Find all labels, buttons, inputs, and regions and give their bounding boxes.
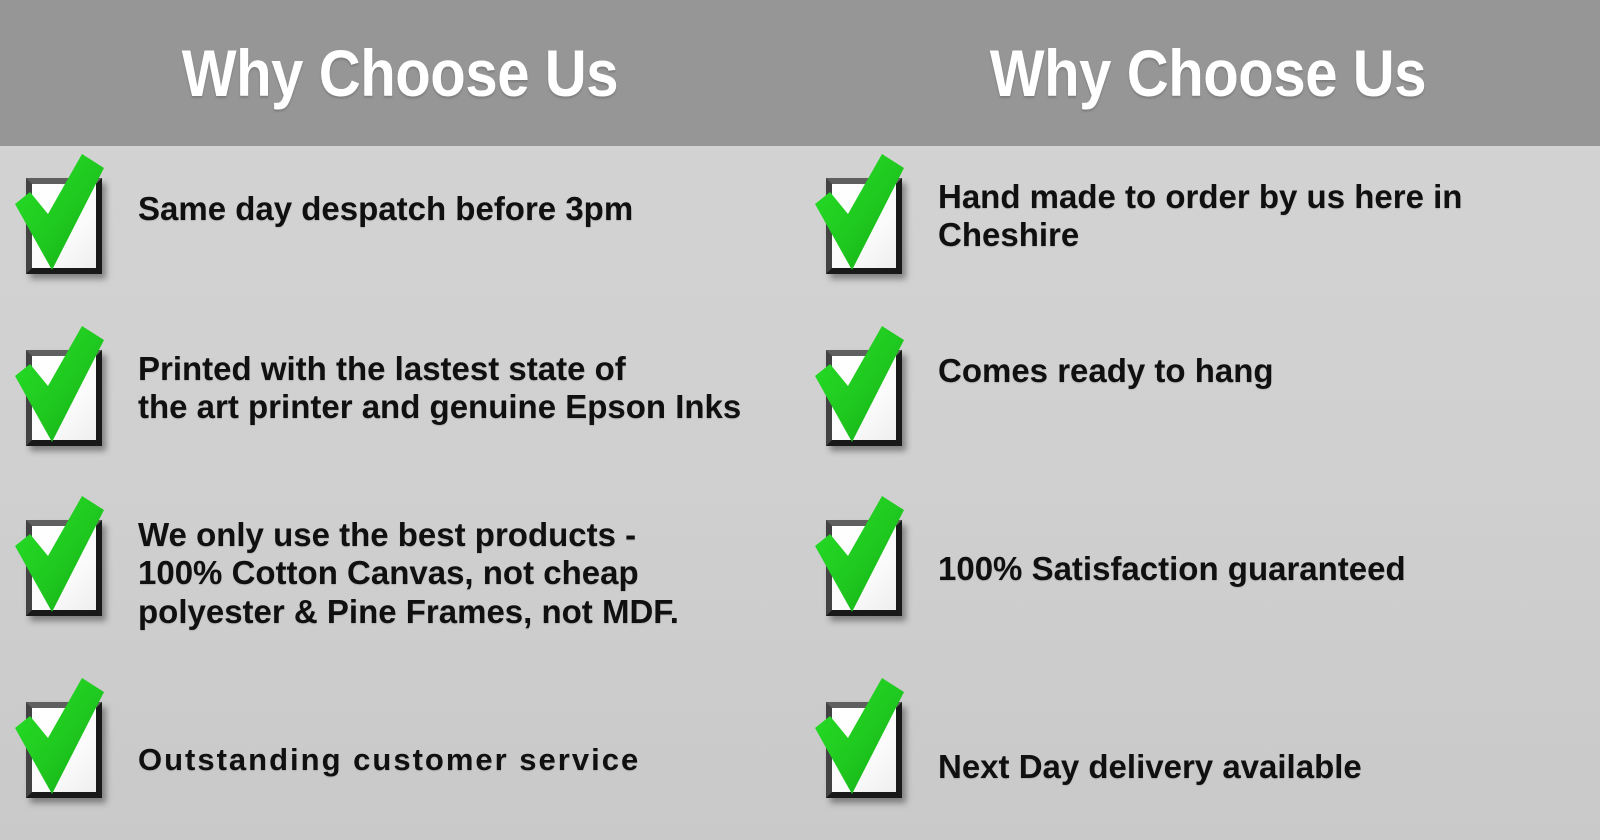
green-check-icon (12, 494, 108, 620)
green-check-icon (812, 494, 908, 620)
list-item-label: 100% Satisfaction guaranteed (908, 494, 1406, 588)
list-item: Printed with the lastest state of the ar… (12, 324, 741, 450)
why-choose-us-banner: Why Choose Us Why Choose Us (0, 0, 1600, 840)
green-check-icon (812, 152, 908, 278)
list-item-label: Printed with the lastest state of the ar… (108, 324, 741, 427)
list-item-label: Outstanding customer service (108, 676, 640, 778)
list-item: Next Day delivery available (812, 676, 1362, 802)
list-item: Hand made to order by us here in Cheshir… (812, 152, 1462, 278)
green-check-icon (812, 324, 908, 450)
header-band: Why Choose Us Why Choose Us (0, 0, 1600, 146)
page-title-right: Why Choose Us (990, 40, 1426, 106)
list-item-label: Same day despatch before 3pm (108, 152, 633, 228)
features-area: Same day despatch before 3pm Printed wit… (0, 146, 1600, 840)
list-item-label: Comes ready to hang (908, 324, 1274, 390)
features-column-right: Hand made to order by us here in Cheshir… (800, 146, 1600, 840)
green-check-icon (812, 676, 908, 802)
list-item-label: Hand made to order by us here in Cheshir… (908, 152, 1462, 255)
header-left-half: Why Choose Us (0, 0, 800, 146)
list-item-label: Next Day delivery available (908, 676, 1362, 786)
list-item: Comes ready to hang (812, 324, 1274, 450)
list-item-label: We only use the best products - 100% Cot… (108, 494, 679, 631)
list-item: Outstanding customer service (12, 676, 640, 802)
header-right-half: Why Choose Us (800, 0, 1600, 146)
green-check-icon (12, 676, 108, 802)
green-check-icon (12, 152, 108, 278)
features-column-left: Same day despatch before 3pm Printed wit… (0, 146, 800, 840)
list-item: 100% Satisfaction guaranteed (812, 494, 1406, 620)
page-title-left: Why Choose Us (182, 40, 618, 106)
list-item: Same day despatch before 3pm (12, 152, 633, 278)
green-check-icon (12, 324, 108, 450)
list-item: We only use the best products - 100% Cot… (12, 494, 679, 631)
